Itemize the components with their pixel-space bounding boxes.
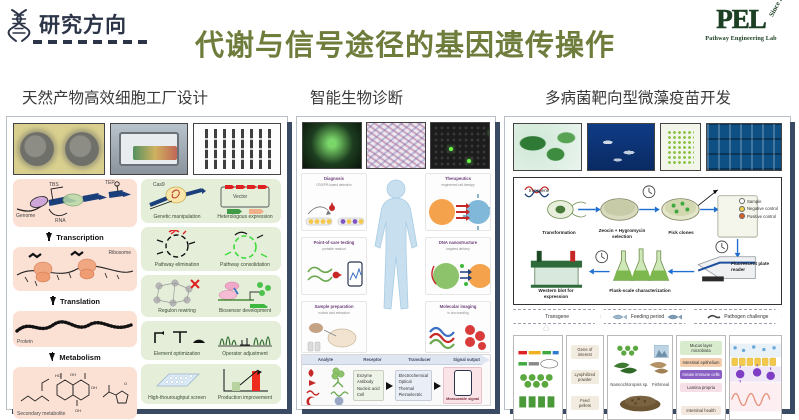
arrow-metabolism: Metabolism xyxy=(13,347,137,367)
tool-label: Biosensor development xyxy=(211,308,279,314)
tool-label: High-thouroughput screen xyxy=(143,395,211,401)
chevron-transgene: Transgene xyxy=(513,309,601,324)
toolbox-row-2: Pathway elimination Pathway consolidatio… xyxy=(141,227,281,271)
transducer-item: Piezoelectric xyxy=(399,392,429,398)
flow-arrow-1-icon xyxy=(386,382,393,390)
step-flask-characterization: Flask-scale characterization xyxy=(608,288,672,294)
molecular-imaging-icon xyxy=(426,318,491,352)
genome-schematic-icon xyxy=(13,179,137,227)
tool-label: Operator adjustment xyxy=(211,351,279,357)
logo-wordmark-wrap: PEL Since 2008 xyxy=(689,6,793,33)
dna-helix-icon xyxy=(6,8,32,42)
panel-2-shadow-bottom xyxy=(302,409,500,414)
tool-operator-adjustment: Operator adjustment xyxy=(211,324,279,351)
cell-title: Sample preparation xyxy=(302,304,366,309)
feeding-trial-columns: Gene of interest Lyophilized powder Feed… xyxy=(513,335,782,420)
toolbox-row-5: High-thouroughput screen Production impr… xyxy=(141,364,281,404)
panel-2-shadow-right xyxy=(495,122,500,414)
tool-label: Element optimization xyxy=(143,351,211,357)
diagnostics-map: Diagnosis CRISPR-based detection Therape xyxy=(301,173,491,351)
legend-sample: Sample xyxy=(739,198,778,204)
tool-biosensor-development: Biosensor development xyxy=(211,278,279,308)
ribosome-box: Ribosome xyxy=(13,247,137,291)
svg-text:OH: OH xyxy=(75,408,81,413)
receptor-icons xyxy=(329,367,351,405)
toolbox-row-1: Cas9 Genetic manipulation Vector He xyxy=(141,179,281,223)
tag-feed-pellets: Feed pellets xyxy=(571,396,600,410)
cell-title: Molecular imaging xyxy=(426,304,490,309)
panel-cell-factory: TBS TEP Genome RNA Transcription xyxy=(6,116,288,410)
tool-label: Genetic manipulation xyxy=(143,214,211,220)
fish-icon xyxy=(612,313,628,321)
flow-header-signal-output: Signal output xyxy=(443,357,490,362)
pel-logo: PEL Since 2008 Pathway Engineering Lab xyxy=(689,6,793,42)
cell-title: DNA nanostructure xyxy=(426,240,490,245)
microplate-icon xyxy=(149,368,205,394)
operator-peaks-icon xyxy=(216,325,274,351)
flow-header-row: Analyte Receptor Transducer Signal outpu… xyxy=(302,355,490,365)
array-spot-3 xyxy=(467,159,471,163)
diagnostic-cell-1: Diagnosis CRISPR-based detection xyxy=(301,173,367,231)
down-arrow-icon xyxy=(46,233,52,241)
tool-label: Regulon rewiring xyxy=(143,308,211,314)
panel-3-photo-strip xyxy=(513,123,782,171)
tool-label: Heterologous expression xyxy=(211,214,279,220)
gut-layer-epithelium: Intestinal epithelium xyxy=(680,358,723,367)
tool-label: Pathway elimination xyxy=(143,262,211,268)
down-arrow-icon xyxy=(50,297,56,305)
signal-output-box: Measurable signal xyxy=(443,367,482,404)
gel-band-1 xyxy=(198,138,276,140)
agar-plate-colonies-photo xyxy=(13,123,105,175)
slide-header: 研究方向 代谢与信号途径的基因遗传操作 PEL Since 2008 Pathw… xyxy=(0,0,799,72)
tool-label: Production improvement xyxy=(211,395,279,401)
cell-therapy-icon xyxy=(426,190,491,230)
receptor-item: Cell xyxy=(357,392,380,398)
flow-header-transducer: Transducer xyxy=(396,357,443,362)
cell-subtitle: in vivo tracking xyxy=(426,311,490,315)
element-symbols-icon xyxy=(149,325,205,351)
column-gut-layers: Mucus layer microbiota Intestinal epithe… xyxy=(676,335,726,420)
biosensor-icon xyxy=(216,278,274,308)
svg-text:OH: OH xyxy=(70,372,76,377)
construct-to-culture-icon xyxy=(515,339,561,416)
arrow-transcription-label: Transcription xyxy=(56,233,104,242)
step-transformation: Transformation xyxy=(528,230,590,236)
array-spot-2 xyxy=(449,147,453,151)
cell-subtitle: nucleic acid extraction xyxy=(302,311,366,315)
measurable-signal-label: Measurable signal xyxy=(446,397,479,401)
down-arrow-icon xyxy=(49,353,55,361)
pellet-pile-icon xyxy=(609,389,671,415)
gel-band-2 xyxy=(198,148,276,150)
step-western-blot: Western blot for expression xyxy=(526,288,586,299)
feed-sources-icon xyxy=(609,340,671,380)
regulon-network-icon xyxy=(149,278,205,308)
step-selection: Zeocin + Hygromycin selection xyxy=(590,228,654,239)
metabolite-box: HO OH OH OH O Secondary metabolite xyxy=(13,367,137,419)
outcome-intestinal-health: Intestinal health xyxy=(681,406,721,415)
tool-regulon-rewiring: Regulon rewiring xyxy=(143,278,211,308)
chevron-label: Feeding period xyxy=(631,314,664,320)
tool-pathway-consolidation: Pathway consolidation xyxy=(211,230,279,262)
cell-title: Diagnosis xyxy=(302,176,366,181)
chevron-pathogen-challenge: Pathogen challenge xyxy=(694,309,782,324)
flow-content-row: Enzyme Antibody Nucleic acid Cell Electr… xyxy=(302,365,490,406)
flow-header-analyte: Analyte xyxy=(302,357,349,362)
transgene-label: transgene xyxy=(522,188,556,194)
panel-2-photo-strip xyxy=(302,122,490,169)
secondary-metabolite-label: Secondary metabolite xyxy=(17,411,65,417)
protein-box: Protein xyxy=(13,311,137,347)
tag-gene-of-interest: Gene of interest xyxy=(571,345,600,359)
pathway-consolidation-icon xyxy=(217,230,273,262)
analyte-icons xyxy=(305,367,327,405)
legend-label: Positive control xyxy=(747,214,776,219)
ribosome-label: Ribosome xyxy=(108,250,131,256)
kicker-group: 研究方向 xyxy=(6,8,127,42)
diagnostic-cell-6: Molecular imaging in vivo tracking xyxy=(425,301,491,353)
svg-text:O: O xyxy=(124,381,127,386)
array-spot-1 xyxy=(489,131,490,135)
legend-negative-control: Negative control xyxy=(739,206,778,212)
cas9-tag: Cas9 xyxy=(153,182,165,188)
algae-plate-photo xyxy=(660,123,701,171)
logo-wordmark: PEL xyxy=(716,4,766,34)
receptor-item: Nucleic acid xyxy=(357,386,380,392)
human-body-silhouette xyxy=(371,175,421,365)
cell-subtitle: CRISPR-based detection xyxy=(302,183,366,187)
genome-tag-rna: RNA xyxy=(55,218,66,224)
biosensor-flow: Analyte Receptor Transducer Signal outpu… xyxy=(301,354,491,406)
dna-nanostructure-icon xyxy=(426,254,491,294)
smartphone-icon xyxy=(454,370,472,396)
poc-device-icon xyxy=(302,254,367,294)
tool-high-throughput-screen: High-thouroughput screen xyxy=(143,367,211,395)
diagnostic-cell-4: DNA nanostructure targeted delivery xyxy=(425,237,491,295)
panel-biodiagnostics: Diagnosis CRISPR-based detection Therape xyxy=(296,116,496,410)
svg-text:OH: OH xyxy=(91,385,97,390)
tool-pathway-elimination: Pathway elimination xyxy=(143,230,211,262)
fish-icon xyxy=(667,313,683,321)
vaccine-workflow-diagram: transgene Transformation Zeocin + Hygrom… xyxy=(513,177,782,305)
sample-prep-icon xyxy=(302,318,367,352)
production-bar-chart-icon xyxy=(218,367,272,395)
column-material-tags: Gene of interest Lyophilized powder Feed… xyxy=(566,335,603,420)
legend-dot-sample xyxy=(739,198,745,204)
logo-subtitle: Pathway Engineering Lab xyxy=(689,35,793,42)
label-fishmeal: Fishmeal xyxy=(652,382,669,387)
gut-microbiota-icon xyxy=(730,336,781,419)
bacteriophage-micrograph xyxy=(302,122,362,169)
legend-label: Sample xyxy=(747,199,762,204)
tool-label: Pathway consolidation xyxy=(211,262,279,268)
fermenter-body xyxy=(119,132,179,166)
toolbox-row-4: Element optimization Operator adjustment xyxy=(141,321,281,360)
feeding-trial-diagram: Transgene Feeding period xyxy=(513,309,782,403)
engineering-toolbox-column: Cas9 Genetic manipulation Vector He xyxy=(141,179,281,404)
column-gut-microbiota xyxy=(729,335,782,420)
page-title: 代谢与信号途径的基因遗传操作 xyxy=(190,31,620,63)
tag-lyophilized-powder: Lyophilized powder xyxy=(571,370,600,384)
genome-box: TBS TEP Genome RNA xyxy=(13,179,137,227)
gut-layer-immune-cells: Innate immune cells xyxy=(680,370,723,379)
fermenter-photo xyxy=(110,123,188,175)
crispr-detection-icon xyxy=(302,190,367,230)
slide-root: 研究方向 代谢与信号途径的基因遗传操作 PEL Since 2008 Pathw… xyxy=(0,0,799,417)
label-nannochloropsis: Nannochloropsis sp. xyxy=(610,382,648,387)
gel-band-3 xyxy=(198,158,276,160)
section-title-3: 多病菌靶向型微藻疫苗开发 xyxy=(545,86,731,108)
genome-tag-tbs: TBS xyxy=(49,182,59,188)
stained-tissue-section xyxy=(366,122,426,169)
photobioreactor-photo xyxy=(706,123,782,171)
colony-2 xyxy=(65,132,99,166)
toolbox-row-3: Regulon rewiring Biosensor development xyxy=(141,275,281,317)
arrow-translation: Translation xyxy=(13,291,137,311)
flow-header-receptor: Receptor xyxy=(349,357,396,362)
step-plate-reader: Fluorescent plate reader xyxy=(731,261,777,272)
arrow-metabolism-label: Metabolism xyxy=(59,353,100,362)
feeding-trial-chevrons: Transgene Feeding period xyxy=(513,309,782,324)
genome-tag-genome: Genome xyxy=(16,213,35,219)
plate-legend: Sample Negative control Positive control xyxy=(739,198,778,221)
kicker-dashed-rule xyxy=(33,40,153,44)
gut-layer-lamina-propria: Lamina propria xyxy=(680,383,723,392)
diagnostic-cell-2: Therapeutics engineered cell therapy xyxy=(425,173,491,231)
genome-tag-tep: TEP xyxy=(105,180,115,186)
fish-tank-photo xyxy=(587,123,656,171)
svg-text:HO: HO xyxy=(55,373,61,378)
panel-3-shadow-right xyxy=(790,122,795,414)
column-construct xyxy=(513,335,563,420)
microalgae-culture-photo xyxy=(513,123,582,171)
transducer-list: Electrochemical Optical Thermal Piezoele… xyxy=(395,370,433,400)
microarray-chip xyxy=(430,122,490,169)
diagnostic-cell-3: Point-of-care testing portable readout xyxy=(301,237,367,295)
arrow-translation-label: Translation xyxy=(60,297,100,306)
cell-title: Point-of-care testing xyxy=(302,240,366,245)
panel-microalgae-vaccine: transgene Transformation Zeocin + Hygrom… xyxy=(504,116,791,410)
chevron-label: Pathogen challenge xyxy=(724,314,768,320)
logo-swoosh-text: Since 2008 xyxy=(769,0,790,18)
legend-label: Negative control xyxy=(747,206,778,211)
section-title-2: 智能生物诊断 xyxy=(310,86,403,108)
chevron-label: Transgene xyxy=(545,314,569,320)
protein-label: Protein xyxy=(17,339,33,345)
panel-1-photo-strip xyxy=(13,123,281,175)
tool-genetic-manipulation: Cas9 Genetic manipulation xyxy=(143,182,211,214)
legend-dot-negative xyxy=(739,206,745,212)
protein-gel-photo xyxy=(193,123,281,175)
cell-title: Therapeutics xyxy=(426,176,490,181)
western-blot-icon xyxy=(531,251,582,286)
panel-1-shadow-right xyxy=(287,122,292,414)
cell-subtitle: portable readout xyxy=(302,247,366,251)
kicker-label: 研究方向 xyxy=(39,15,127,36)
diagnostic-cell-5: Sample preparation nucleic acid extracti… xyxy=(301,301,367,353)
flow-arrow-2-icon xyxy=(434,382,441,390)
pathogen-icon xyxy=(707,313,721,321)
step-pick-clones: Pick clones xyxy=(656,230,706,236)
vector-tag: Vector xyxy=(233,194,247,200)
workflow-graphics xyxy=(514,178,781,304)
colony-1 xyxy=(20,132,54,166)
receptor-list: Enzyme Antibody Nucleic acid Cell xyxy=(353,370,384,400)
up-arrow-icon-1 xyxy=(543,325,549,330)
gut-layer-mucus: Mucus layer microbiota xyxy=(680,341,723,355)
pathway-elimination-icon xyxy=(149,230,205,262)
legend-positive-control: Positive control xyxy=(739,213,778,219)
tool-production-improvement: Production improvement xyxy=(211,367,279,395)
tool-heterologous-expression: Vector Heterologous expression xyxy=(211,182,279,214)
feed-source-labels: Nannochloropsis sp. Fishmeal xyxy=(609,382,671,387)
cell-subtitle: targeted delivery xyxy=(426,247,490,251)
section-title-1: 天然产物高效细胞工厂设计 xyxy=(22,86,208,108)
arrow-transcription: Transcription xyxy=(13,227,137,247)
tool-element-optimization: Element optimization xyxy=(143,324,211,351)
legend-dot-positive xyxy=(739,213,745,219)
cell-subtitle: engineered cell therapy xyxy=(426,183,490,187)
chevron-feeding-period: Feeding period xyxy=(603,309,691,324)
column-feed-preparation: Nannochloropsis sp. Fishmeal xyxy=(607,335,673,420)
central-dogma-column: TBS TEP Genome RNA Transcription xyxy=(13,179,137,404)
